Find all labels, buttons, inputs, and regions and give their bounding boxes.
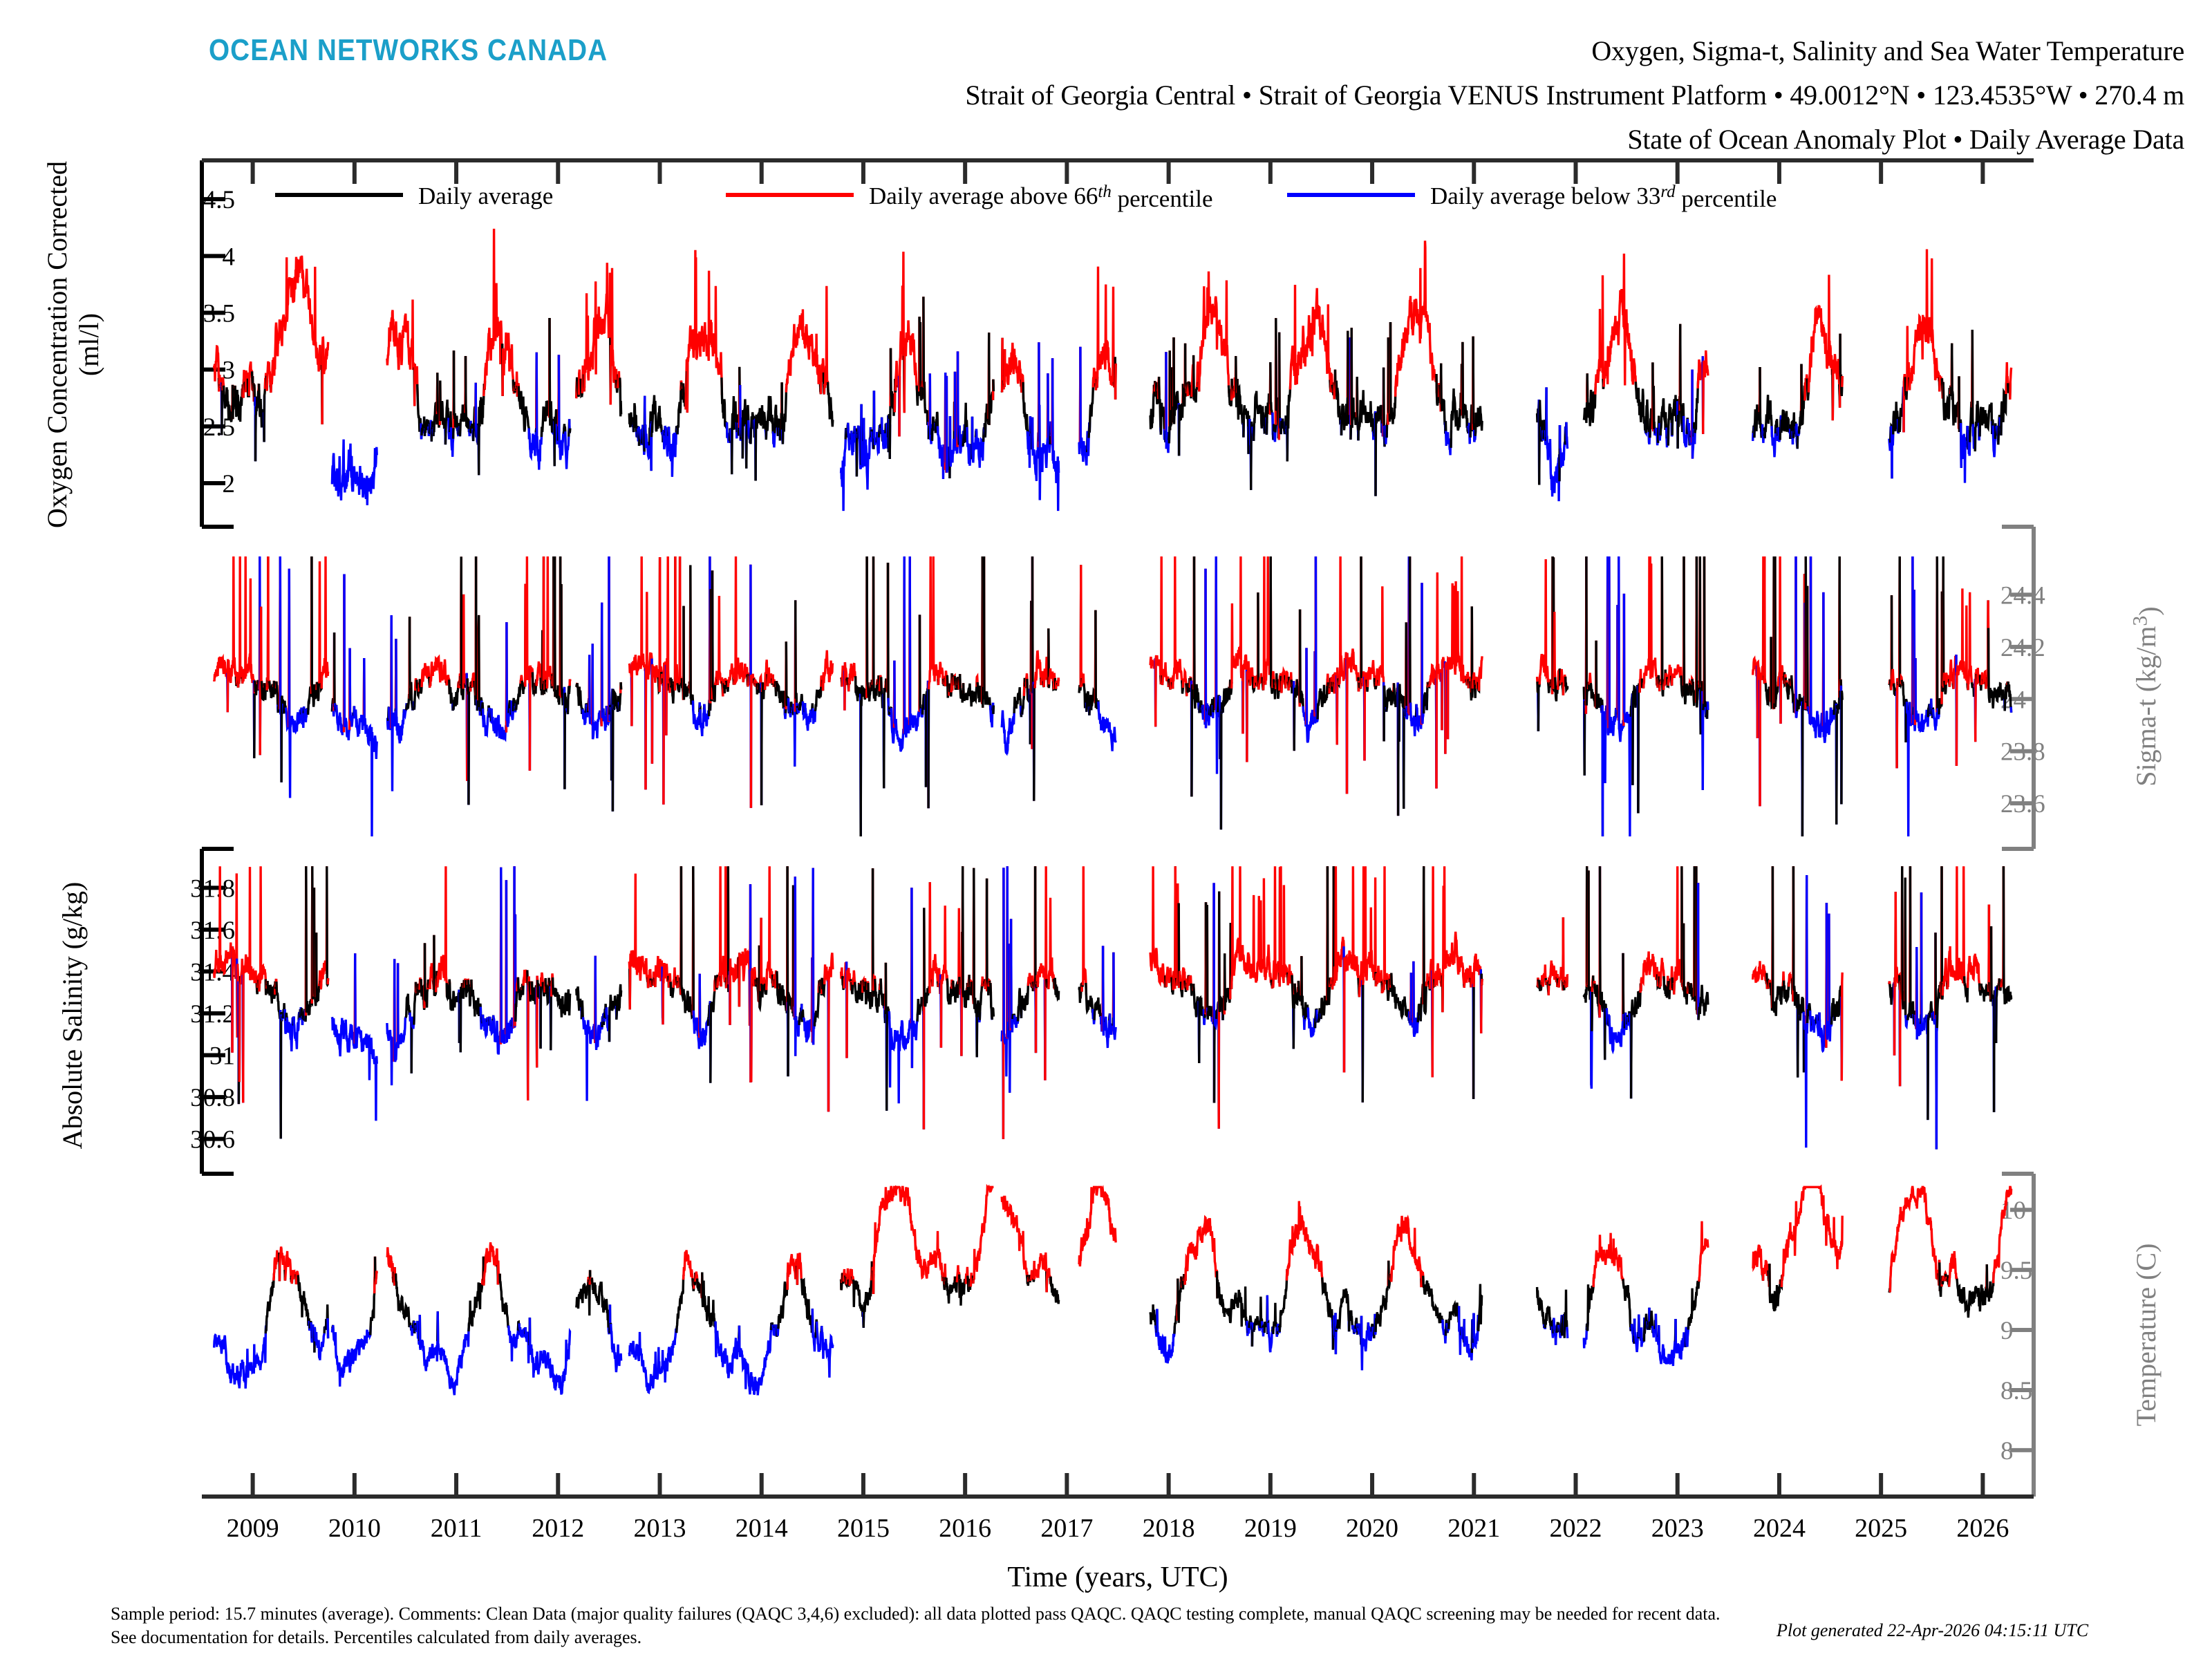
xtick-label-2020: 2020 [1346,1514,1398,1543]
series-run [438,866,447,996]
series-run [321,556,328,688]
series-run [1662,556,1664,696]
series-run [1157,1309,1175,1364]
series-run [1347,648,1359,794]
series-run [1002,707,1014,753]
series-run [239,976,241,1082]
series-run [889,888,912,1103]
series-run [867,556,868,690]
series-run [214,657,228,712]
series-run [484,1242,498,1285]
series-run [1475,406,1482,436]
series-run [1811,556,1824,738]
axis-title-salinity: Absolute Salinity (g/kg) [57,882,88,1150]
series-run [1942,866,1943,1000]
series-run [715,1322,739,1378]
legend-label-1: Daily average above 66th percentile [869,182,1213,212]
series-run [822,1326,833,1378]
series-run [853,1280,863,1328]
series-run [1391,322,1396,424]
series-run [328,978,328,984]
series-run [1045,866,1047,1080]
series-run [1698,883,1699,1020]
series-run [1910,866,1911,1018]
xtick-label-2026: 2026 [1956,1514,2009,1543]
series-run [281,1012,281,1138]
series-run [1753,1245,1763,1281]
series-run [1058,678,1059,686]
series-run [989,332,993,425]
series-run [1287,384,1291,462]
series-run [536,353,542,470]
series-run [529,428,536,457]
series-run [1705,556,1706,717]
series-run [1554,612,1555,687]
series-run [243,556,254,758]
series-run [1097,267,1114,388]
series-run [364,658,377,836]
series-run [767,866,773,990]
series-run [1055,978,1058,1000]
series-run [1631,984,1641,1099]
series-run [1538,677,1539,731]
series-run [659,557,662,692]
series-run [550,318,552,432]
series-run [1707,702,1708,710]
series-run [1567,1327,1568,1338]
axis-title-sigmat: Sigma-t (kg/m3) [2128,606,2164,787]
series-run [974,1187,994,1280]
series-run [1808,275,1833,421]
series-run [559,355,564,460]
series-run [547,556,552,688]
series-run [946,1277,955,1304]
series-run [1175,866,1177,988]
series-run [319,561,321,689]
series-run [1949,1251,1958,1287]
series-run [1049,898,1054,989]
ytick-label-salinity-1: 30.8 [190,1084,235,1112]
series-run [762,682,762,805]
series-run [261,607,262,686]
series-run [355,953,377,1121]
ytick-label-salinity-4: 31.4 [190,958,235,986]
series-run [592,1277,608,1332]
series-run [1539,400,1542,485]
ytick-label-salinity-6: 31.8 [190,874,235,903]
series-run [1972,330,1973,436]
series-run [1753,961,1768,988]
series-run [1036,984,1037,1053]
series-run [553,977,570,1018]
ytick-label-sigmat-4: 24.4 [2000,581,2045,610]
series-run [1837,705,1837,825]
xtick-label-2010: 2010 [328,1514,381,1543]
series-run [1021,982,1028,1018]
legend-label-2: Daily average below 33rd percentile [1430,182,1777,212]
series-run [491,622,507,740]
series-run [1396,241,1437,397]
series-run [1943,556,1944,688]
xtick-label-2019: 2019 [1244,1514,1297,1543]
series-run [1593,1233,1623,1287]
series-run [1194,556,1199,710]
series-run [315,1327,324,1360]
series-run [396,639,404,743]
legend-label-0: Daily average [418,182,553,209]
series-run [845,662,847,711]
series-run [1337,1288,1349,1331]
series-run [1699,1221,1708,1282]
series-run [782,384,786,444]
series-run [1782,1187,1842,1280]
series-run [1384,866,1386,990]
series-run [1384,686,1387,742]
series-run [609,556,610,721]
series-run [2003,866,2011,1004]
series-run [1150,866,1165,987]
series-run [977,1000,979,1057]
series-run [1566,677,1568,690]
series-run [711,981,715,1083]
ytick-label-oxygen-5: 4.5 [203,186,235,214]
series-salinity [214,866,2012,1149]
series-run [681,866,693,1018]
series-run [1676,1319,1686,1360]
series-run [984,556,991,710]
series-run [529,1318,570,1394]
series-run [1644,556,1658,688]
series-run [1764,556,1765,685]
series-run [387,299,415,406]
series-run [1258,592,1259,689]
series-run [910,556,919,731]
series-run [271,256,322,424]
series-run [1451,364,1462,447]
series-run [1391,973,1409,1021]
series-run [1796,556,1797,718]
series-run [1968,592,1972,690]
series-run [1539,559,1548,686]
series-run [287,1018,293,1051]
series-run [354,658,364,735]
series-run [425,943,428,1007]
series-run [602,603,603,718]
series-run [1473,337,1474,442]
series-run [516,680,521,709]
series-run [1264,556,1266,691]
series-run [1474,972,1474,1099]
series-run [1957,1264,1987,1318]
series-sigmat [214,556,2012,836]
series-run [992,1007,993,1020]
series-run [1096,610,1099,711]
series-run [1033,556,1034,693]
series-run [1604,254,1636,388]
xtick-label-2015: 2015 [837,1514,890,1543]
xtick-label-2025: 2025 [1855,1514,1907,1543]
series-run [1928,1015,1929,1120]
series-run [595,956,602,1050]
series-run [1968,954,1980,991]
series-run [317,682,320,701]
series-run [332,440,377,505]
series-run [1772,866,1783,1015]
series-run [904,320,917,413]
series-run [928,682,929,808]
series-run [1808,586,1808,711]
series-run [735,556,748,685]
series-run [1362,980,1363,1103]
series-run [1703,350,1708,434]
ytick-label-temperature-0: 8 [2000,1437,2014,1465]
series-run [1376,1261,1389,1332]
series-run [1635,382,1645,433]
series-run [823,650,833,691]
series-run [693,866,694,1020]
ytick-label-sigmat-3: 24.2 [2000,634,2045,662]
series-run [1906,702,1909,836]
series-run [328,1318,328,1338]
series-run [669,426,677,477]
series-run [863,1275,872,1328]
series-run [1922,892,1926,1031]
series-run [675,556,678,691]
series-run [1280,866,1288,986]
series-run [1698,985,1708,1020]
series-run [1080,565,1082,687]
series-run [1335,1313,1336,1354]
series-run [1432,866,1434,1077]
panel-oxygen: 22.533.544.5Oxygen Concentration Correct… [41,160,2012,528]
series-run [570,679,570,686]
ytick-label-salinity-5: 31.6 [190,917,235,945]
series-run [1587,373,1595,426]
series-run [888,563,889,711]
series-run [825,286,829,394]
state-of-ocean-anomaly-plot: 22.533.544.5Oxygen Concentration Correct… [0,0,2212,1659]
ytick-label-salinity-0: 30.6 [190,1126,235,1154]
series-run [1098,702,1116,751]
series-run [1688,1277,1699,1330]
series-run [630,874,648,1010]
ytick-label-salinity-3: 31.2 [190,1000,235,1029]
ytick-label-oxygen-4: 4 [223,243,236,271]
series-run [874,1187,943,1294]
series-run [471,980,481,1021]
series-run [924,297,924,388]
series-run [1300,610,1304,713]
series-run [243,867,257,1103]
panel-salinity: 30.630.83131.231.431.631.8Absolute Salin… [57,849,2012,1174]
series-run [795,877,796,1056]
series-run [973,417,976,463]
series-run [1423,1276,1443,1329]
series-run [239,556,243,684]
series-run [1079,1187,1116,1266]
series-run [1363,866,1376,986]
series-run [920,615,921,711]
series-run [1389,1261,1390,1286]
series-run [583,956,595,1101]
series-run [322,338,328,424]
series-run [632,556,646,789]
ytick-label-temperature-3: 9.5 [2000,1257,2032,1285]
footer-note: Sample period: 15.7 minutes (average). C… [111,1602,1742,1650]
series-run [503,332,514,396]
series-run [518,386,529,440]
series-run [1391,1216,1421,1287]
series-run [1424,866,1427,1013]
series-run [993,379,994,391]
series-run [1082,866,1086,995]
series-run [1034,681,1035,800]
series-run [1414,962,1418,1037]
series-run [796,600,797,714]
series-run [1150,1304,1156,1329]
series-run [1116,364,1116,400]
series-run [1479,1284,1482,1331]
series-run [577,1277,589,1309]
series-run [1936,1012,1938,1150]
series-run [912,888,918,1068]
series-run [1219,892,1223,1020]
series-run [691,565,693,711]
series-run [884,682,886,789]
xtick-label-2011: 2011 [431,1514,482,1543]
series-run [565,693,567,789]
series-run [260,681,261,755]
series-run [479,384,485,475]
series-run [469,682,471,805]
series-run [1334,866,1344,1072]
series-run [1602,705,1606,836]
series-run [1956,588,1967,766]
series-run [1980,403,1992,437]
series-run [677,1275,684,1333]
series-run [684,1250,693,1285]
series-run [1895,977,1895,1056]
series-run [289,569,301,798]
xtick-label-2023: 2023 [1651,1514,1704,1543]
series-run [1232,556,1244,734]
series-run [375,1271,377,1284]
series-run [1482,979,1483,985]
series-run [718,866,721,986]
series-run [1910,250,1940,392]
series-run [687,250,722,413]
axis-title-temperature: Temperature (C) [2130,1244,2162,1427]
series-run [787,1254,797,1290]
series-run [485,229,503,396]
series-run [621,682,621,690]
series-run [1004,343,1022,393]
series-run [1996,984,1999,1044]
series-run [964,677,977,706]
series-run [1770,1264,1781,1311]
ytick-label-oxygen-0: 2 [223,470,236,498]
series-run [611,1324,621,1372]
series-run [2010,368,2012,400]
series-run [702,1273,716,1333]
series-run [652,395,662,433]
series-run [1537,1287,1544,1328]
series-run [1318,679,1327,720]
series-run [1023,382,1028,440]
series-run [584,263,610,404]
series-run [739,1323,771,1396]
series-run [1051,1277,1059,1304]
xtick-label-2017: 2017 [1040,1514,1093,1543]
series-run [1546,387,1559,501]
xtick-label-2021: 2021 [1447,1514,1500,1543]
series-run [786,309,821,392]
series-run [1841,973,1842,1081]
series-run [298,1275,310,1331]
series-run [1638,679,1640,814]
series-run [1114,953,1116,1040]
panel-temperature: 88.599.510Temperature (C) [214,1174,2162,1497]
series-run [500,1274,509,1328]
series-run [1567,975,1568,987]
series-run [1315,556,1318,722]
series-run [1376,405,1382,496]
xtick-label-2016: 2016 [939,1514,991,1543]
series-run [841,428,846,511]
series-run [666,556,669,735]
series-run [1695,381,1698,433]
series-run [570,429,570,433]
series-run [1221,709,1221,829]
series-run [1890,1187,1938,1292]
series-run [1672,664,1682,685]
series-run [1609,953,1623,1051]
xtick-label-2013: 2013 [634,1514,686,1543]
series-run [1009,944,1010,1031]
series-run [333,1325,371,1387]
series-run [1841,691,1842,804]
series-run [581,1000,583,1019]
series-run [1185,1217,1217,1298]
series-run [987,879,988,991]
series-run [700,974,708,1047]
series-run [469,1280,482,1331]
series-run [1199,997,1204,1063]
series-run [960,1279,965,1306]
series-run [476,556,478,711]
xtick-label-2024: 2024 [1753,1514,1806,1543]
series-run [1653,386,1655,435]
series-run [1623,1279,1631,1331]
series-run [1566,422,1568,449]
series-run [420,1311,438,1371]
series-run [718,596,722,689]
series-run [438,1311,469,1395]
series-run [1781,410,1790,433]
series-run [739,948,749,1026]
series-run [1322,1277,1333,1328]
series-run [620,377,621,416]
series-run [259,866,266,995]
series-run [1161,556,1162,685]
series-run [509,1322,518,1362]
series-run [266,1274,274,1331]
axis-title-oxygen: Oxygen Concentration Corrected(ml/l) [41,161,104,528]
series-run [317,932,319,1002]
series-run [1443,866,1464,1012]
series-run [398,963,406,1048]
series-run [993,705,994,713]
